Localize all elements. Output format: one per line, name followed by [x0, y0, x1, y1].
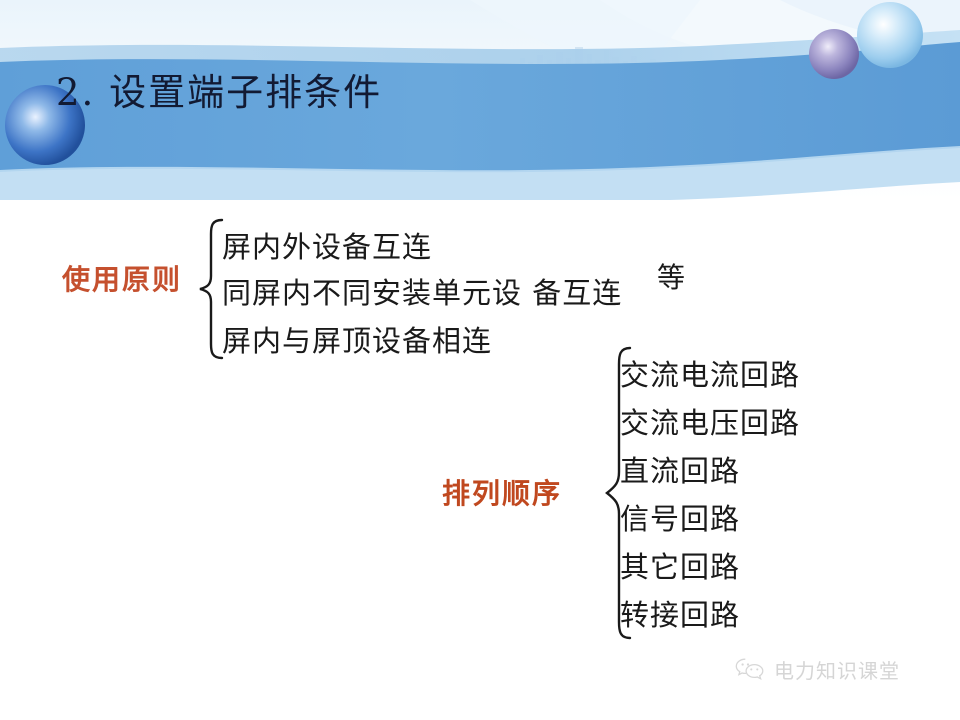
list-item: 屏内外设备互连 — [222, 224, 432, 266]
decorative-sphere-purple — [809, 29, 859, 79]
list-item: 其它回路 — [620, 544, 740, 586]
list-item: 交流电压回路 — [620, 400, 800, 442]
list-item: 同屏内不同安装单元设 备互连 — [222, 270, 622, 312]
slide: wa — [0, 0, 960, 720]
list-item: 转接回路 — [620, 592, 740, 634]
list-item: 信号回路 — [620, 496, 740, 538]
watermark-text: 电力知识课堂 — [774, 655, 900, 684]
decorative-sphere-blue — [857, 2, 923, 68]
header-banner: wa — [0, 0, 960, 200]
group-label-arrangement-order: 排列顺序 — [442, 472, 562, 512]
list-item: 交流电流回路 — [620, 352, 800, 394]
wechat-icon — [735, 657, 765, 683]
list-item: 屏内与屏顶设备相连 — [222, 318, 492, 360]
watermark: 电力知识课堂 — [735, 655, 900, 684]
suffix-et-cetera: 等 — [657, 256, 685, 296]
group-label-usage-principle: 使用原则 — [62, 258, 182, 298]
list-item: 直流回路 — [620, 448, 740, 490]
page-title: 2. 设置端子排条件 — [56, 62, 382, 116]
